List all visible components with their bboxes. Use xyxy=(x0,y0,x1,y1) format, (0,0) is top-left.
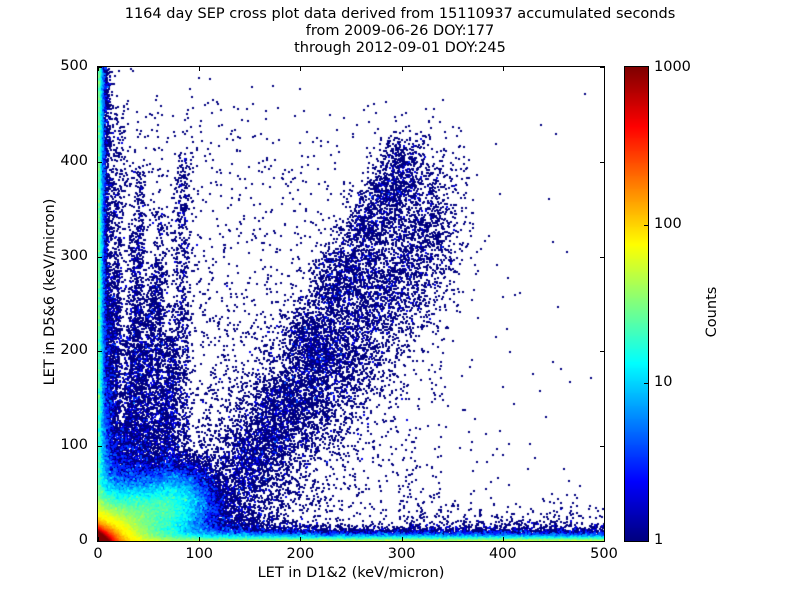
colorbar-label: Counts xyxy=(704,212,720,412)
x-axis-label: LET in D1&2 (keV/micron) xyxy=(97,565,605,581)
x-tick xyxy=(199,67,200,71)
x-tick-label: 400 xyxy=(489,546,517,562)
y-tick xyxy=(600,67,604,68)
y-tick xyxy=(98,446,102,447)
y-axis-label: LET in D5&6 (keV/micron) xyxy=(42,92,58,492)
y-tick xyxy=(600,162,604,163)
figure-canvas: 1164 day SEP cross plot data derived fro… xyxy=(0,0,800,600)
y-tick xyxy=(600,257,604,258)
x-tick xyxy=(604,67,605,71)
y-tick-label: 400 xyxy=(60,153,88,169)
y-tick xyxy=(600,541,604,542)
y-tick-label: 500 xyxy=(60,58,88,74)
plot-title-line-3: through 2012-09-01 DOY:245 xyxy=(0,40,800,57)
plot-axes xyxy=(97,66,605,542)
plot-title-line-2: from 2009-06-26 DOY:177 xyxy=(0,23,800,40)
colorbar-gradient xyxy=(625,67,648,541)
colorbar-tick xyxy=(644,225,648,226)
y-tick xyxy=(98,541,102,542)
x-tick xyxy=(503,537,504,541)
x-tick xyxy=(300,537,301,541)
x-tick xyxy=(300,67,301,71)
colorbar-tick xyxy=(644,383,648,384)
colorbar-tick-label: 1000 xyxy=(654,59,691,75)
x-tick-label: 200 xyxy=(287,546,315,562)
y-tick xyxy=(600,446,604,447)
x-tick xyxy=(604,537,605,541)
y-tick xyxy=(98,257,102,258)
colorbar-tick-label: 10 xyxy=(654,374,672,390)
y-tick xyxy=(600,351,604,352)
y-tick xyxy=(98,351,102,352)
x-tick-label: 300 xyxy=(388,546,416,562)
colorbar-tick-label: 100 xyxy=(654,216,682,232)
x-tick xyxy=(402,67,403,71)
y-tick-label: 0 xyxy=(79,532,88,548)
x-tick-label: 100 xyxy=(185,546,213,562)
colorbar-tick-label: 1 xyxy=(654,532,663,548)
y-tick xyxy=(98,67,102,68)
x-tick-label: 0 xyxy=(93,546,102,562)
plot-title-line-1: 1164 day SEP cross plot data derived fro… xyxy=(0,6,800,23)
y-tick-label: 300 xyxy=(60,248,88,264)
y-tick-label: 100 xyxy=(60,437,88,453)
plot-title: 1164 day SEP cross plot data derived fro… xyxy=(0,6,800,57)
x-tick-label: 500 xyxy=(590,546,618,562)
x-tick xyxy=(402,537,403,541)
colorbar xyxy=(624,66,649,542)
x-tick xyxy=(503,67,504,71)
y-tick xyxy=(98,162,102,163)
y-tick-label: 200 xyxy=(60,342,88,358)
scatter-density-canvas xyxy=(98,67,604,541)
x-tick xyxy=(199,537,200,541)
